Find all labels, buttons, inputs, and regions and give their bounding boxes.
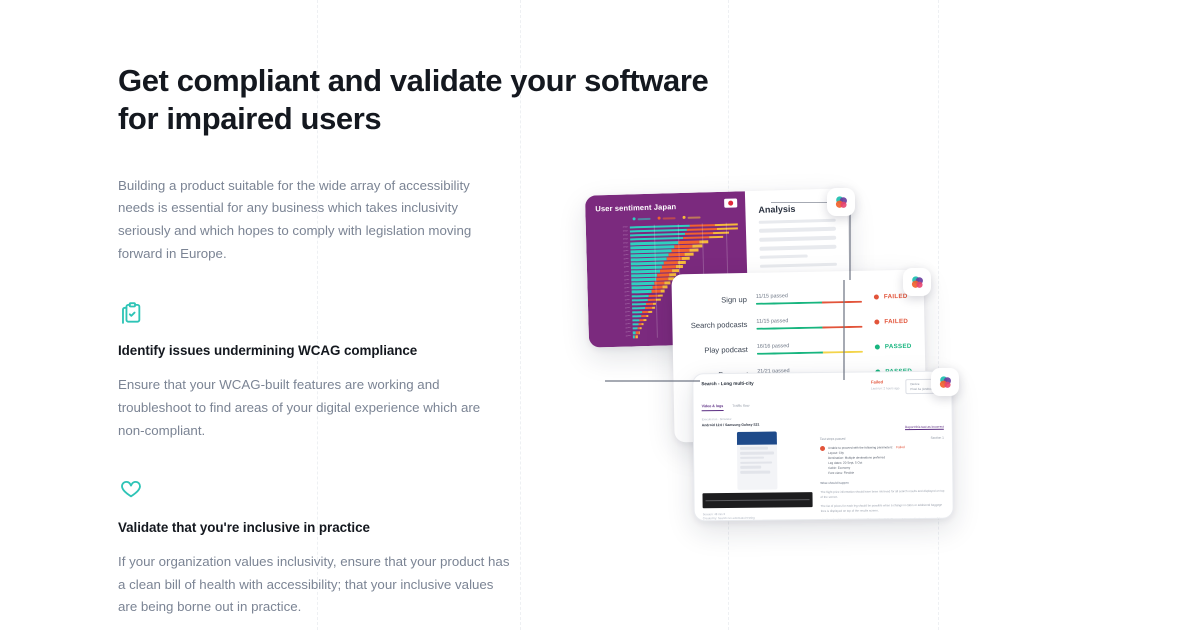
pass-count: 11/15 passed <box>756 292 862 300</box>
detail-title: Search - Long multi-city <box>701 381 753 387</box>
feature-block-compliance: Identify issues undermining WCAG complia… <box>118 300 510 443</box>
feature-body: Ensure that your WCAG-built features are… <box>118 374 510 443</box>
chart-bar-segment <box>644 319 646 322</box>
detail-meta: Executed on · Simulator <box>702 416 812 421</box>
chart-bar-segment <box>652 286 662 289</box>
feature-block-inclusive: Validate that you're inclusive in practi… <box>118 477 510 620</box>
chart-bar-segment <box>648 311 652 314</box>
pass-count: 16/16 passed <box>757 342 863 350</box>
page-title: Get compliant and validate your software… <box>118 62 738 138</box>
test-name: Sign up <box>682 295 756 306</box>
skeleton-line <box>760 255 808 260</box>
video-player[interactable] <box>702 492 812 508</box>
feature-title: Identify issues undermining WCAG complia… <box>118 343 510 358</box>
detail-media-column: Executed on · Simulator Android 12.0 / S… <box>702 416 813 521</box>
chart-bar-segment <box>632 311 642 314</box>
chart-bar-segment <box>665 282 671 285</box>
expected-header: What should happen <box>820 479 944 485</box>
detail-paragraph: The flight price information should have… <box>820 488 944 499</box>
status-badge: PASSED <box>863 343 915 351</box>
pass-count: 11/15 passed <box>756 317 862 325</box>
failed-step: Unable to proceed with the following par… <box>820 445 944 477</box>
legend-entry <box>683 215 701 219</box>
chart-bar-segment <box>692 244 702 247</box>
tab-video-logs[interactable]: Video & logs <box>702 404 724 411</box>
chart-bar-segment <box>642 323 644 326</box>
step-status: Failed <box>896 445 905 476</box>
progress-cell: 11/15 passed <box>756 292 862 305</box>
detail-paragraph: The list of prices for each leg should b… <box>821 503 945 514</box>
chart-bar-segment <box>638 331 639 334</box>
analysis-title: Analysis <box>758 203 835 215</box>
session-creator: Created by: Search run automated testing <box>703 516 813 522</box>
chart-bar-segment <box>649 294 658 297</box>
brand-logo-badge <box>903 268 931 296</box>
chart-bar-segment <box>689 249 698 252</box>
detail-session-info: Session: 48 min 3 Created by: Search run… <box>703 511 813 521</box>
step-item: Fare class: Flexible <box>828 471 893 477</box>
status-badge: FAILED <box>862 318 914 326</box>
chart-bar-segment <box>660 270 673 273</box>
chart-bar-segment <box>648 298 656 301</box>
chart-bar-segment <box>632 307 645 310</box>
chart-bar-segment <box>709 236 723 239</box>
chart-bar-segment <box>632 294 649 297</box>
chart-bar-segment <box>662 265 676 268</box>
chart-bar-segment <box>664 261 678 264</box>
tab-traffic-flow[interactable]: Traffic flow <box>732 404 749 411</box>
skeleton-line <box>760 263 837 269</box>
chart-bar-segment <box>663 286 668 289</box>
legend-entry <box>658 216 676 220</box>
brand-logo-icon <box>937 374 954 391</box>
device-screenshot <box>737 431 778 489</box>
chart-legend <box>596 214 738 221</box>
heart-icon <box>118 477 144 503</box>
chart-bar-segment <box>646 315 648 318</box>
chart-bar-segment <box>685 253 694 256</box>
chart-bar-segment <box>652 306 656 309</box>
chart-bar-segment <box>632 315 641 318</box>
card-test-detail[interactable]: Search - Long multi-city Failed Last run… <box>692 371 954 522</box>
feature-title: Validate that you're inclusive in practi… <box>118 520 510 535</box>
brand-logo-icon <box>909 274 926 291</box>
feature-body: If your organization values inclusivity,… <box>118 551 510 620</box>
skeleton-line <box>759 218 836 224</box>
progress-cell: 11/15 passed <box>756 317 862 330</box>
test-name: Search podcasts <box>682 320 756 331</box>
detail-status: Failed <box>871 379 899 384</box>
detail-status-sub: Last run: 2 hours ago <box>871 386 899 390</box>
progress-bar <box>757 350 863 354</box>
status-dot-icon <box>875 344 880 349</box>
chart-bar-segment <box>658 274 670 277</box>
chart-bar-segment <box>636 335 637 338</box>
page-root: Get compliant and validate your software… <box>0 0 1200 630</box>
chart-bar-segment <box>632 303 646 306</box>
chart-bar-segment <box>669 253 685 256</box>
steps-section: Section 1 <box>931 436 944 440</box>
progress-bar <box>756 325 862 329</box>
report-incorrect-link[interactable]: Report this test as incorrect <box>905 425 944 429</box>
brand-logo-badge <box>827 188 855 216</box>
detail-header: Search - Long multi-city Failed Last run… <box>701 379 943 397</box>
status-label: FAILED <box>884 318 908 325</box>
clipboard-check-icon <box>118 300 144 326</box>
intro-paragraph: Building a product suitable for the wide… <box>118 175 508 266</box>
status-dot-icon <box>874 319 879 324</box>
chart-title: User sentiment Japan <box>595 200 737 213</box>
chart-bar-segment <box>672 249 689 252</box>
chart-row-label: —— <box>599 335 631 340</box>
chart-bar-segment <box>632 290 652 293</box>
product-screenshot-collage: User sentiment Japan <box>575 180 995 550</box>
badge-connector <box>605 380 700 382</box>
status-label: PASSED <box>885 343 912 351</box>
chart-bar-segment <box>674 245 692 248</box>
chart-bar-segment <box>660 290 665 293</box>
steps-header: Test steps passed <box>820 437 846 441</box>
progress-bar <box>756 300 862 304</box>
chart-bar-segment <box>699 240 708 243</box>
chart-bar-segment <box>657 278 669 281</box>
detail-device: Android 12.0 / Samsung Galaxy S21 <box>702 422 812 427</box>
detail-paragraph: The list price information cards with fl… <box>821 517 945 522</box>
chart-bar-segment <box>658 294 663 297</box>
detail-tabs: Video & logs Traffic flow <box>702 402 944 412</box>
status-label: FAILED <box>884 293 908 300</box>
legend-entry <box>633 217 651 221</box>
progress-cell: 16/16 passed <box>757 342 863 355</box>
detail-steps-column: Report this test as incorrect Test steps… <box>820 415 945 522</box>
step-fail-icon <box>820 446 825 451</box>
content-column: Get compliant and validate your software… <box>118 62 518 619</box>
skeleton-line <box>759 236 836 242</box>
chart-bar-segment <box>681 257 689 260</box>
chart-bar-segment <box>632 299 648 302</box>
japan-flag-icon <box>724 198 737 207</box>
chart-bar-segment <box>640 327 642 330</box>
skeleton-line <box>759 227 836 233</box>
skeleton-line <box>759 245 836 251</box>
test-name: Play podcast <box>683 345 757 356</box>
status-dot-icon <box>874 294 879 299</box>
brand-logo-badge <box>931 368 959 396</box>
badge-connector <box>843 280 845 380</box>
brand-logo-icon <box>833 194 850 211</box>
